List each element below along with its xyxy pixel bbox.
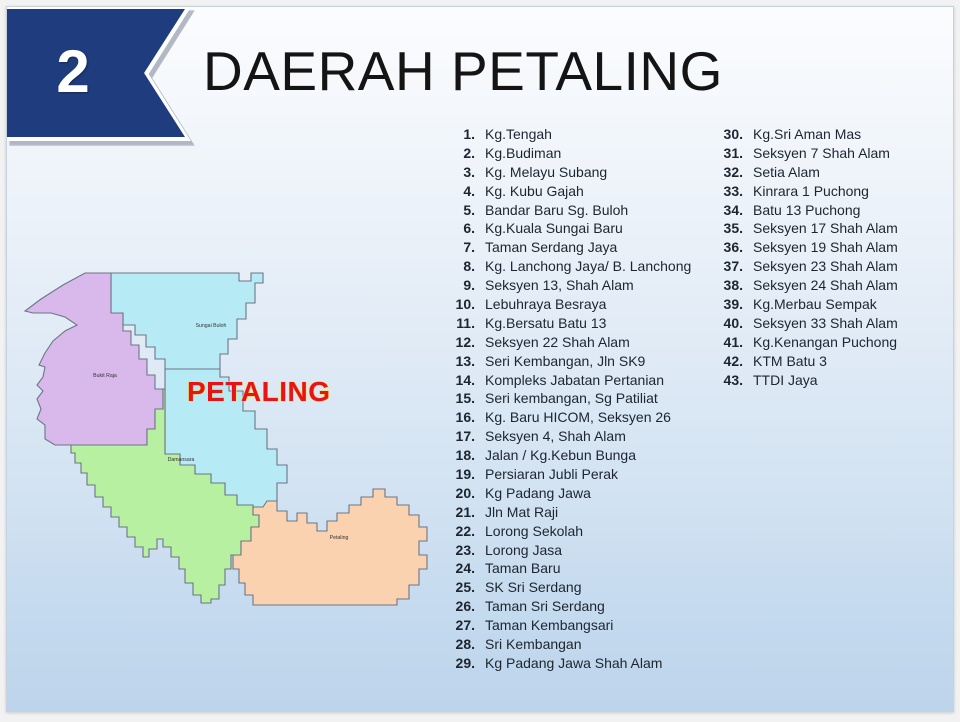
list-item-label: Seksyen 23 Shah Alam xyxy=(753,257,954,276)
list-item-number: 43. xyxy=(713,371,753,390)
list-item-number: 32. xyxy=(713,163,753,182)
list-item: 39.Kg.Merbau Sempak xyxy=(713,295,954,314)
map-label-bukit-raja: Bukit Raja xyxy=(93,373,117,379)
list-item-number: 7. xyxy=(439,238,485,257)
list-item-label: Bandar Baru Sg. Buloh xyxy=(485,201,709,220)
list-item-number: 26. xyxy=(439,597,485,616)
list-item-label: Kg.Budiman xyxy=(485,144,709,163)
list-item-label: Kg. Baru HICOM, Seksyen 26 xyxy=(485,408,709,427)
list-item-label: Taman Kembangsari xyxy=(485,616,709,635)
map-main-label: PETALING xyxy=(187,376,330,407)
list-item: 33.Kinrara 1 Puchong xyxy=(713,182,954,201)
list-item: 43.TTDI Jaya xyxy=(713,371,954,390)
list-item: 12.Seksyen 22 Shah Alam xyxy=(439,333,709,352)
list-item: 21.Jln Mat Raji xyxy=(439,503,709,522)
list-item-number: 19. xyxy=(439,465,485,484)
map-label-damansara: Damansara xyxy=(168,457,195,463)
list-item-label: KTM Batu 3 xyxy=(753,352,954,371)
list-item-number: 1. xyxy=(439,125,485,144)
list-item-label: Setia Alam xyxy=(753,163,954,182)
list-item: 29.Kg Padang Jawa Shah Alam xyxy=(439,654,709,673)
list-item-number: 21. xyxy=(439,503,485,522)
list-item-number: 17. xyxy=(439,427,485,446)
list-item: 20.Kg Padang Jawa xyxy=(439,484,709,503)
list-item: 38.Seksyen 24 Shah Alam xyxy=(713,276,954,295)
petaling-district-map: Bukit Raja Sungai Buloh Damansara Petali… xyxy=(15,269,445,641)
list-item-number: 2. xyxy=(439,144,485,163)
list-item: 11.Kg.Bersatu Batu 13 xyxy=(439,314,709,333)
list-item-number: 29. xyxy=(439,654,485,673)
map-label-petaling: Petaling xyxy=(330,535,349,541)
list-item: 23.Lorong Jasa xyxy=(439,541,709,560)
list-item-number: 24. xyxy=(439,559,485,578)
list-item-label: Seksyen 7 Shah Alam xyxy=(753,144,954,163)
list-item: 18.Jalan / Kg.Kebun Bunga xyxy=(439,446,709,465)
list-item: 31.Seksyen 7 Shah Alam xyxy=(713,144,954,163)
list-item-number: 4. xyxy=(439,182,485,201)
list-item-label: TTDI Jaya xyxy=(753,371,954,390)
list-item-label: Kg.Kenangan Puchong xyxy=(753,333,954,352)
list-item-number: 15. xyxy=(439,389,485,408)
list-item-number: 31. xyxy=(713,144,753,163)
list-item-label: Seksyen 22 Shah Alam xyxy=(485,333,709,352)
list-item-label: Kompleks Jabatan Pertanian xyxy=(485,371,709,390)
list-item-label: Lebuhraya Besraya xyxy=(485,295,709,314)
list-item: 8.Kg. Lanchong Jaya/ B. Lanchong xyxy=(439,257,709,276)
list-item: 17.Seksyen 4, Shah Alam xyxy=(439,427,709,446)
list-item-number: 28. xyxy=(439,635,485,654)
list-item: 9.Seksyen 13, Shah Alam xyxy=(439,276,709,295)
list-item-number: 36. xyxy=(713,238,753,257)
list-item-number: 5. xyxy=(439,201,485,220)
list-item-label: Kg Padang Jawa Shah Alam xyxy=(485,654,709,673)
list-item: 27.Taman Kembangsari xyxy=(439,616,709,635)
list-item-label: Persiaran Jubli Perak xyxy=(485,465,709,484)
list-item-label: Kg. Lanchong Jaya/ B. Lanchong xyxy=(485,257,709,276)
list-item: 4.Kg. Kubu Gajah xyxy=(439,182,709,201)
list-item-number: 38. xyxy=(713,276,753,295)
slide-canvas: 2 DAERAH PETALING Bukit Raja Sungai Bulo… xyxy=(6,6,954,712)
list-item-label: Taman Sri Serdang xyxy=(485,597,709,616)
list-item-number: 37. xyxy=(713,257,753,276)
list-item-label: Taman Baru xyxy=(485,559,709,578)
list-item: 40.Seksyen 33 Shah Alam xyxy=(713,314,954,333)
list-item-number: 30. xyxy=(713,125,753,144)
list-item-label: Seksyen 4, Shah Alam xyxy=(485,427,709,446)
list-item-label: Seksyen 24 Shah Alam xyxy=(753,276,954,295)
list-item-number: 40. xyxy=(713,314,753,333)
list-item-number: 11. xyxy=(439,314,485,333)
list-item-number: 6. xyxy=(439,219,485,238)
list-item: 5.Bandar Baru Sg. Buloh xyxy=(439,201,709,220)
list-item-label: Kinrara 1 Puchong xyxy=(753,182,954,201)
list-item-label: Batu 13 Puchong xyxy=(753,201,954,220)
list-item: 36.Seksyen 19 Shah Alam xyxy=(713,238,954,257)
list-item-label: Kg. Kubu Gajah xyxy=(485,182,709,201)
list-item: 37.Seksyen 23 Shah Alam xyxy=(713,257,954,276)
list-item-label: Seksyen 19 Shah Alam xyxy=(753,238,954,257)
list-item: 19.Persiaran Jubli Perak xyxy=(439,465,709,484)
list-item-number: 20. xyxy=(439,484,485,503)
list-item: 42.KTM Batu 3 xyxy=(713,352,954,371)
list-item-number: 16. xyxy=(439,408,485,427)
list-item: 32.Setia Alam xyxy=(713,163,954,182)
list-item-label: SK Sri Serdang xyxy=(485,578,709,597)
list-item: 16.Kg. Baru HICOM, Seksyen 26 xyxy=(439,408,709,427)
list-item-number: 13. xyxy=(439,352,485,371)
list-item-label: Kg.Bersatu Batu 13 xyxy=(485,314,709,333)
list-item-label: Lorong Sekolah xyxy=(485,522,709,541)
list-item-label: Seri kembangan, Sg Patiliat xyxy=(485,389,709,408)
list-item-number: 41. xyxy=(713,333,753,352)
list-item-label: Kg.Merbau Sempak xyxy=(753,295,954,314)
list-item-label: Kg.Tengah xyxy=(485,125,709,144)
list-item-number: 12. xyxy=(439,333,485,352)
list-item: 6.Kg.Kuala Sungai Baru xyxy=(439,219,709,238)
list-item-label: Kg Padang Jawa xyxy=(485,484,709,503)
section-number: 2 xyxy=(7,7,139,135)
list-item-number: 23. xyxy=(439,541,485,560)
location-list-right: 30.Kg.Sri Aman Mas31.Seksyen 7 Shah Alam… xyxy=(713,125,954,389)
list-item-label: Lorong Jasa xyxy=(485,541,709,560)
list-item: 15.Seri kembangan, Sg Patiliat xyxy=(439,389,709,408)
list-item-number: 39. xyxy=(713,295,753,314)
list-item-number: 34. xyxy=(713,201,753,220)
list-item-number: 35. xyxy=(713,219,753,238)
list-item: 2.Kg.Budiman xyxy=(439,144,709,163)
list-item-number: 33. xyxy=(713,182,753,201)
page-title: DAERAH PETALING xyxy=(203,39,723,103)
list-item: 35.Seksyen 17 Shah Alam xyxy=(713,219,954,238)
list-item-label: Sri Kembangan xyxy=(485,635,709,654)
list-item: 7.Taman Serdang Jaya xyxy=(439,238,709,257)
list-item-number: 27. xyxy=(439,616,485,635)
list-item-number: 22. xyxy=(439,522,485,541)
list-item: 3.Kg. Melayu Subang xyxy=(439,163,709,182)
list-item: 1.Kg.Tengah xyxy=(439,125,709,144)
list-item: 30.Kg.Sri Aman Mas xyxy=(713,125,954,144)
list-item: 34.Batu 13 Puchong xyxy=(713,201,954,220)
list-item-number: 25. xyxy=(439,578,485,597)
list-item-label: Kg. Melayu Subang xyxy=(485,163,709,182)
list-item-number: 18. xyxy=(439,446,485,465)
list-item-label: Kg.Sri Aman Mas xyxy=(753,125,954,144)
list-item-label: Jalan / Kg.Kebun Bunga xyxy=(485,446,709,465)
list-item: 41.Kg.Kenangan Puchong xyxy=(713,333,954,352)
list-item: 26.Taman Sri Serdang xyxy=(439,597,709,616)
list-item: 13.Seri Kembangan, Jln SK9 xyxy=(439,352,709,371)
list-item-label: Jln Mat Raji xyxy=(485,503,709,522)
list-item-label: Seri Kembangan, Jln SK9 xyxy=(485,352,709,371)
list-item-label: Seksyen 17 Shah Alam xyxy=(753,219,954,238)
list-item-number: 3. xyxy=(439,163,485,182)
list-item-number: 42. xyxy=(713,352,753,371)
list-item: 24.Taman Baru xyxy=(439,559,709,578)
list-item-number: 9. xyxy=(439,276,485,295)
list-item-number: 10. xyxy=(439,295,485,314)
list-item-label: Kg.Kuala Sungai Baru xyxy=(485,219,709,238)
list-item-number: 8. xyxy=(439,257,485,276)
list-item-number: 14. xyxy=(439,371,485,390)
list-item: 28.Sri Kembangan xyxy=(439,635,709,654)
list-item: 10.Lebuhraya Besraya xyxy=(439,295,709,314)
list-item-label: Seksyen 33 Shah Alam xyxy=(753,314,954,333)
location-list-left: 1.Kg.Tengah2.Kg.Budiman3.Kg. Melayu Suba… xyxy=(439,125,709,673)
list-item-label: Taman Serdang Jaya xyxy=(485,238,709,257)
list-item-label: Seksyen 13, Shah Alam xyxy=(485,276,709,295)
map-label-sungai-buloh: Sungai Buloh xyxy=(196,323,227,329)
list-item: 14.Kompleks Jabatan Pertanian xyxy=(439,371,709,390)
list-item: 25.SK Sri Serdang xyxy=(439,578,709,597)
list-item: 22.Lorong Sekolah xyxy=(439,522,709,541)
